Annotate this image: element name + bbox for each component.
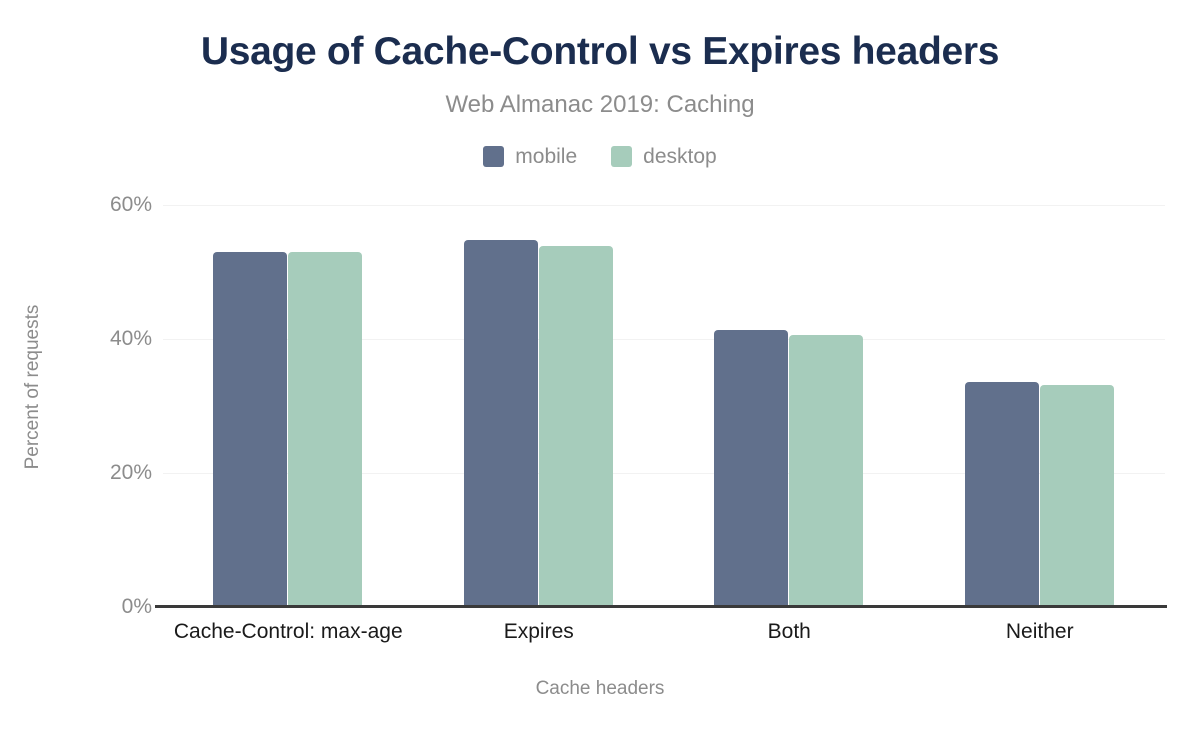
chart-subtitle: Web Almanac 2019: Caching	[0, 90, 1200, 120]
bar-group	[714, 205, 864, 607]
x-axis-tick-labels: Cache-Control: max-ageExpiresBothNeither	[163, 618, 1165, 652]
legend-item-desktop[interactable]: desktop	[611, 146, 717, 167]
bar[interactable]	[1040, 385, 1114, 607]
bar-group	[965, 205, 1115, 607]
bar[interactable]	[539, 246, 613, 607]
bar[interactable]	[288, 252, 362, 607]
y-axis-tick-0pct: 0%	[12, 596, 152, 617]
legend-item-mobile[interactable]: mobile	[483, 146, 577, 167]
legend-swatch-desktop-icon	[611, 146, 632, 167]
bar-group	[464, 205, 614, 607]
bar[interactable]	[965, 382, 1039, 607]
bar[interactable]	[464, 240, 538, 607]
bar[interactable]	[714, 330, 788, 607]
x-axis-line	[155, 605, 1167, 608]
legend-swatch-mobile-icon	[483, 146, 504, 167]
legend-label-mobile: mobile	[515, 146, 577, 167]
plot-area	[163, 205, 1165, 607]
chart-title: Usage of Cache-Control vs Expires header…	[0, 28, 1200, 76]
chart-figure: Usage of Cache-Control vs Expires header…	[0, 0, 1200, 742]
bar[interactable]	[789, 335, 863, 607]
y-axis-tick-60pct: 60%	[12, 194, 152, 215]
x-axis-title: Cache headers	[0, 678, 1200, 700]
bar-group	[213, 205, 363, 607]
chart-legend: mobile desktop	[0, 140, 1200, 172]
y-axis-title: Percent of requests	[22, 277, 44, 497]
x-axis-tick-label: Neither	[840, 618, 1200, 646]
bar[interactable]	[213, 252, 287, 607]
legend-label-desktop: desktop	[643, 146, 717, 167]
